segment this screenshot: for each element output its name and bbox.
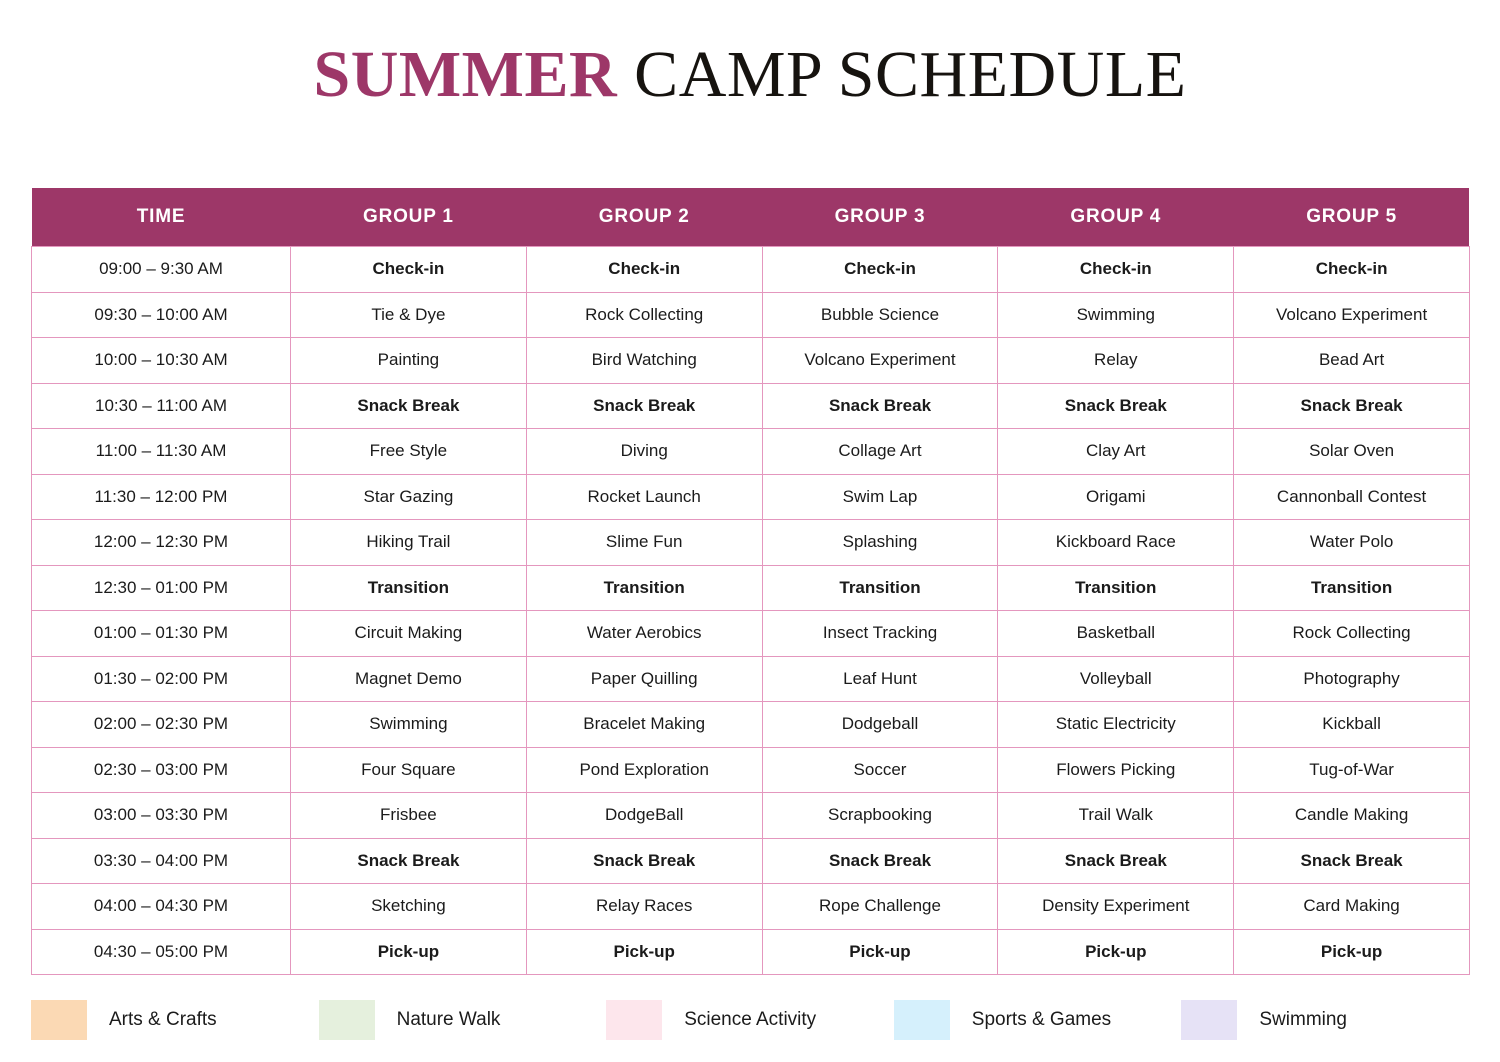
activity-cell[interactable]: Candle Making: [1234, 793, 1470, 839]
time-slot-cell: 03:00 – 03:30 PM: [32, 793, 291, 839]
activity-cell[interactable]: Tug-of-War: [1234, 747, 1470, 793]
activity-cell[interactable]: Transition: [762, 565, 998, 611]
time-slot-cell: 09:30 – 10:00 AM: [32, 292, 291, 338]
legend-label-nature: Nature Walk: [397, 1009, 501, 1031]
activity-cell[interactable]: Star Gazing: [291, 474, 527, 520]
legend-swatch-science: [606, 1000, 662, 1040]
time-slot-cell: 01:00 – 01:30 PM: [32, 611, 291, 657]
table-body: 09:00 – 9:30 AMCheck-inCheck-inCheck-inC…: [32, 247, 1470, 975]
activity-cell[interactable]: Bead Art: [1234, 338, 1470, 384]
activity-cell[interactable]: Kickball: [1234, 702, 1470, 748]
time-slot-cell: 03:30 – 04:00 PM: [32, 838, 291, 884]
column-header-group-1[interactable]: GROUP 1: [291, 188, 527, 247]
activity-cell[interactable]: Water Polo: [1234, 520, 1470, 566]
activity-cell[interactable]: Circuit Making: [291, 611, 527, 657]
legend-item-science: Science Activity: [606, 1000, 894, 1040]
activity-cell[interactable]: Check-in: [1234, 247, 1470, 293]
schedule-table-wrapper: TIMEGROUP 1GROUP 2GROUP 3GROUP 4GROUP 5 …: [31, 110, 1469, 975]
activity-cell[interactable]: Scrapbooking: [762, 793, 998, 839]
activity-cell[interactable]: Photography: [1234, 656, 1470, 702]
legend-item-arts: Arts & Crafts: [31, 1000, 319, 1040]
activity-cell[interactable]: Kickboard Race: [998, 520, 1234, 566]
activity-cell[interactable]: Tie & Dye: [291, 292, 527, 338]
activity-cell[interactable]: Slime Fun: [526, 520, 762, 566]
activity-cell[interactable]: Snack Break: [998, 838, 1234, 884]
activity-cell[interactable]: Diving: [526, 429, 762, 475]
table-row: 11:30 – 12:00 PMStar GazingRocket Launch…: [32, 474, 1470, 520]
activity-cell[interactable]: Rock Collecting: [526, 292, 762, 338]
activity-cell[interactable]: Snack Break: [526, 838, 762, 884]
title-rest-text: CAMP SCHEDULE: [617, 38, 1186, 111]
schedule-table: TIMEGROUP 1GROUP 2GROUP 3GROUP 4GROUP 5 …: [31, 188, 1470, 975]
legend-item-sports: Sports & Games: [894, 1000, 1182, 1040]
time-slot-cell: 11:00 – 11:30 AM: [32, 429, 291, 475]
table-row: 04:00 – 04:30 PMSketchingRelay RacesRope…: [32, 884, 1470, 930]
table-row: 02:30 – 03:00 PMFour SquarePond Explorat…: [32, 747, 1470, 793]
activity-cell[interactable]: Bird Watching: [526, 338, 762, 384]
activity-cell[interactable]: Snack Break: [762, 838, 998, 884]
table-row: 02:00 – 02:30 PMSwimmingBracelet MakingD…: [32, 702, 1470, 748]
activity-cell[interactable]: Rope Challenge: [762, 884, 998, 930]
activity-cell[interactable]: Pick-up: [998, 929, 1234, 975]
activity-cell[interactable]: Paper Quilling: [526, 656, 762, 702]
legend-swatch-nature: [319, 1000, 375, 1040]
activity-cell[interactable]: Magnet Demo: [291, 656, 527, 702]
activity-cell[interactable]: Solar Oven: [1234, 429, 1470, 475]
table-row: 01:00 – 01:30 PMCircuit MakingWater Aero…: [32, 611, 1470, 657]
column-header-group-3[interactable]: GROUP 3: [762, 188, 998, 247]
activity-cell[interactable]: Water Aerobics: [526, 611, 762, 657]
activity-cell[interactable]: Static Electricity: [998, 702, 1234, 748]
activity-cell[interactable]: Insect Tracking: [762, 611, 998, 657]
time-slot-cell: 11:30 – 12:00 PM: [32, 474, 291, 520]
table-row: 12:30 – 01:00 PMTransitionTransitionTran…: [32, 565, 1470, 611]
activity-cell[interactable]: Frisbee: [291, 793, 527, 839]
schedule-page: SUMMER CAMP SCHEDULE TIMEGROUP 1GROUP 2G…: [0, 0, 1500, 1062]
time-slot-cell: 10:30 – 11:00 AM: [32, 383, 291, 429]
table-row: 11:00 – 11:30 AMFree StyleDivingCollage …: [32, 429, 1470, 475]
title-text: SUMMER CAMP SCHEDULE: [0, 42, 1500, 108]
activity-cell[interactable]: Rocket Launch: [526, 474, 762, 520]
activity-cell[interactable]: Dodgeball: [762, 702, 998, 748]
activity-cell[interactable]: Snack Break: [291, 383, 527, 429]
activity-cell[interactable]: Hiking Trail: [291, 520, 527, 566]
activity-cell[interactable]: Snack Break: [998, 383, 1234, 429]
legend-swatch-sports: [894, 1000, 950, 1040]
activity-cell[interactable]: Swim Lap: [762, 474, 998, 520]
activity-cell[interactable]: Leaf Hunt: [762, 656, 998, 702]
activity-cell[interactable]: Transition: [998, 565, 1234, 611]
time-slot-cell: 12:30 – 01:00 PM: [32, 565, 291, 611]
activity-cell[interactable]: Flowers Picking: [998, 747, 1234, 793]
table-row: 09:30 – 10:00 AMTie & DyeRock Collecting…: [32, 292, 1470, 338]
table-row: 12:00 – 12:30 PMHiking TrailSlime FunSpl…: [32, 520, 1470, 566]
legend-item-nature: Nature Walk: [319, 1000, 607, 1040]
legend-swatch-arts: [31, 1000, 87, 1040]
activity-cell[interactable]: Sketching: [291, 884, 527, 930]
activity-cell[interactable]: Soccer: [762, 747, 998, 793]
activity-cell[interactable]: Cannonball Contest: [1234, 474, 1470, 520]
activity-cell[interactable]: Transition: [1234, 565, 1470, 611]
table-row: 04:30 – 05:00 PMPick-upPick-upPick-upPic…: [32, 929, 1470, 975]
activity-cell[interactable]: Relay Races: [526, 884, 762, 930]
activity-cell[interactable]: Snack Break: [526, 383, 762, 429]
activity-cell[interactable]: Volcano Experiment: [762, 338, 998, 384]
activity-cell[interactable]: Transition: [526, 565, 762, 611]
time-slot-cell: 02:30 – 03:00 PM: [32, 747, 291, 793]
activity-cell[interactable]: Clay Art: [998, 429, 1234, 475]
time-slot-cell: 02:00 – 02:30 PM: [32, 702, 291, 748]
activity-cell[interactable]: Collage Art: [762, 429, 998, 475]
activity-cell[interactable]: Volleyball: [998, 656, 1234, 702]
activity-cell[interactable]: DodgeBall: [526, 793, 762, 839]
activity-cell[interactable]: Pick-up: [762, 929, 998, 975]
activity-cell[interactable]: Transition: [291, 565, 527, 611]
legend-item-swimming: Swimming: [1181, 1000, 1469, 1040]
legend-swatch-swimming: [1181, 1000, 1237, 1040]
activity-cell[interactable]: Swimming: [291, 702, 527, 748]
column-header-group-5[interactable]: GROUP 5: [1234, 188, 1470, 247]
activity-cell[interactable]: Splashing: [762, 520, 998, 566]
page-title: SUMMER CAMP SCHEDULE: [0, 0, 1500, 110]
column-header-time[interactable]: TIME: [32, 188, 291, 247]
column-header-group-2[interactable]: GROUP 2: [526, 188, 762, 247]
activity-cell[interactable]: Bracelet Making: [526, 702, 762, 748]
column-header-group-4[interactable]: GROUP 4: [998, 188, 1234, 247]
table-row: 03:30 – 04:00 PMSnack BreakSnack BreakSn…: [32, 838, 1470, 884]
table-row: 10:30 – 11:00 AMSnack BreakSnack BreakSn…: [32, 383, 1470, 429]
activity-cell[interactable]: Four Square: [291, 747, 527, 793]
activity-cell[interactable]: Swimming: [998, 292, 1234, 338]
table-row: 09:00 – 9:30 AMCheck-inCheck-inCheck-inC…: [32, 247, 1470, 293]
time-slot-cell: 09:00 – 9:30 AM: [32, 247, 291, 293]
activity-cell[interactable]: Card Making: [1234, 884, 1470, 930]
time-slot-cell: 10:00 – 10:30 AM: [32, 338, 291, 384]
activity-cell[interactable]: Trail Walk: [998, 793, 1234, 839]
activity-cell[interactable]: Check-in: [762, 247, 998, 293]
legend-label-arts: Arts & Crafts: [109, 1009, 217, 1031]
activity-cell[interactable]: Snack Break: [1234, 838, 1470, 884]
activity-cell[interactable]: Snack Break: [1234, 383, 1470, 429]
table-header: TIMEGROUP 1GROUP 2GROUP 3GROUP 4GROUP 5: [32, 188, 1470, 247]
legend-label-sports: Sports & Games: [972, 1009, 1111, 1031]
activity-cell[interactable]: Check-in: [291, 247, 527, 293]
activity-cell[interactable]: Painting: [291, 338, 527, 384]
activity-cell[interactable]: Bubble Science: [762, 292, 998, 338]
time-slot-cell: 12:00 – 12:30 PM: [32, 520, 291, 566]
activity-cell[interactable]: Rock Collecting: [1234, 611, 1470, 657]
activity-cell[interactable]: Origami: [998, 474, 1234, 520]
activity-cell[interactable]: Pick-up: [291, 929, 527, 975]
activity-cell[interactable]: Pick-up: [526, 929, 762, 975]
legend: Arts & CraftsNature WalkScience Activity…: [31, 1000, 1469, 1040]
time-slot-cell: 04:00 – 04:30 PM: [32, 884, 291, 930]
activity-cell[interactable]: Free Style: [291, 429, 527, 475]
activity-cell[interactable]: Density Experiment: [998, 884, 1234, 930]
activity-cell[interactable]: Relay: [998, 338, 1234, 384]
table-row: 01:30 – 02:00 PMMagnet DemoPaper Quillin…: [32, 656, 1470, 702]
time-slot-cell: 04:30 – 05:00 PM: [32, 929, 291, 975]
activity-cell[interactable]: Pick-up: [1234, 929, 1470, 975]
activity-cell[interactable]: Snack Break: [762, 383, 998, 429]
activity-cell[interactable]: Volcano Experiment: [1234, 292, 1470, 338]
table-row: 10:00 – 10:30 AMPaintingBird WatchingVol…: [32, 338, 1470, 384]
activity-cell[interactable]: Check-in: [998, 247, 1234, 293]
title-accent-word: SUMMER: [314, 38, 618, 111]
table-row: 03:00 – 03:30 PMFrisbeeDodgeBallScrapboo…: [32, 793, 1470, 839]
activity-cell[interactable]: Snack Break: [291, 838, 527, 884]
time-slot-cell: 01:30 – 02:00 PM: [32, 656, 291, 702]
activity-cell[interactable]: Pond Exploration: [526, 747, 762, 793]
legend-label-swimming: Swimming: [1259, 1009, 1347, 1031]
header-row: TIMEGROUP 1GROUP 2GROUP 3GROUP 4GROUP 5: [32, 188, 1470, 247]
activity-cell[interactable]: Basketball: [998, 611, 1234, 657]
legend-label-science: Science Activity: [684, 1009, 816, 1031]
activity-cell[interactable]: Check-in: [526, 247, 762, 293]
